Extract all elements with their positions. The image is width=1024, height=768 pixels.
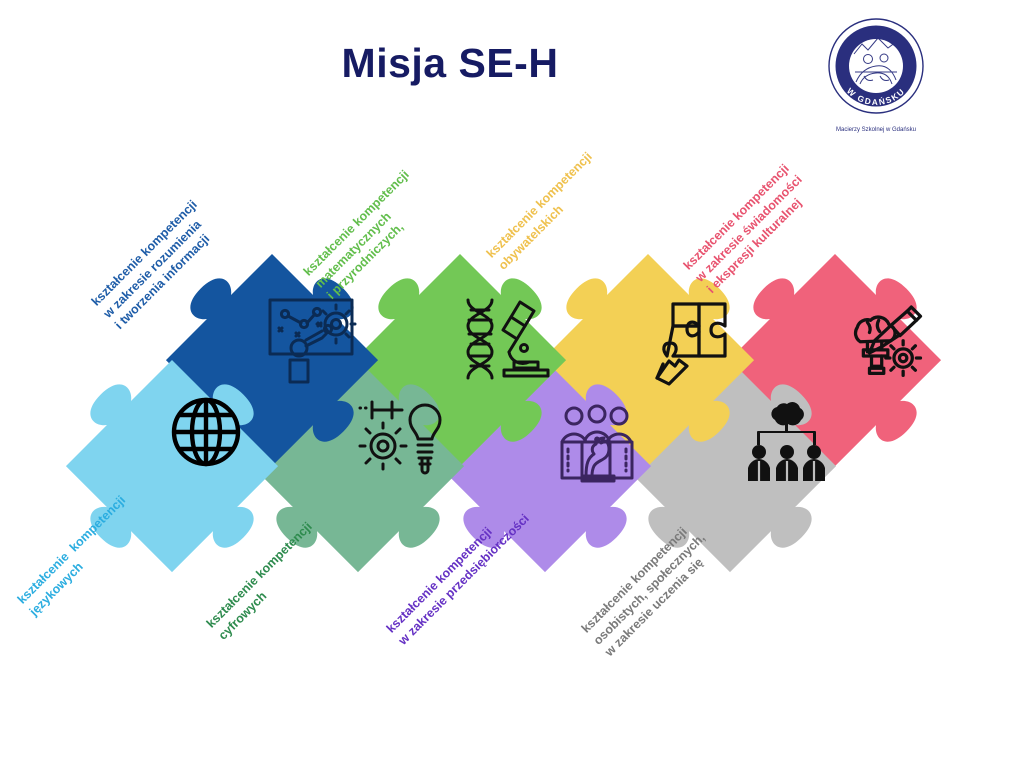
slide-canvas: Misja SE-H <box>0 0 1024 768</box>
globe-icon <box>174 400 238 464</box>
puzzle-diagram <box>0 0 1024 768</box>
